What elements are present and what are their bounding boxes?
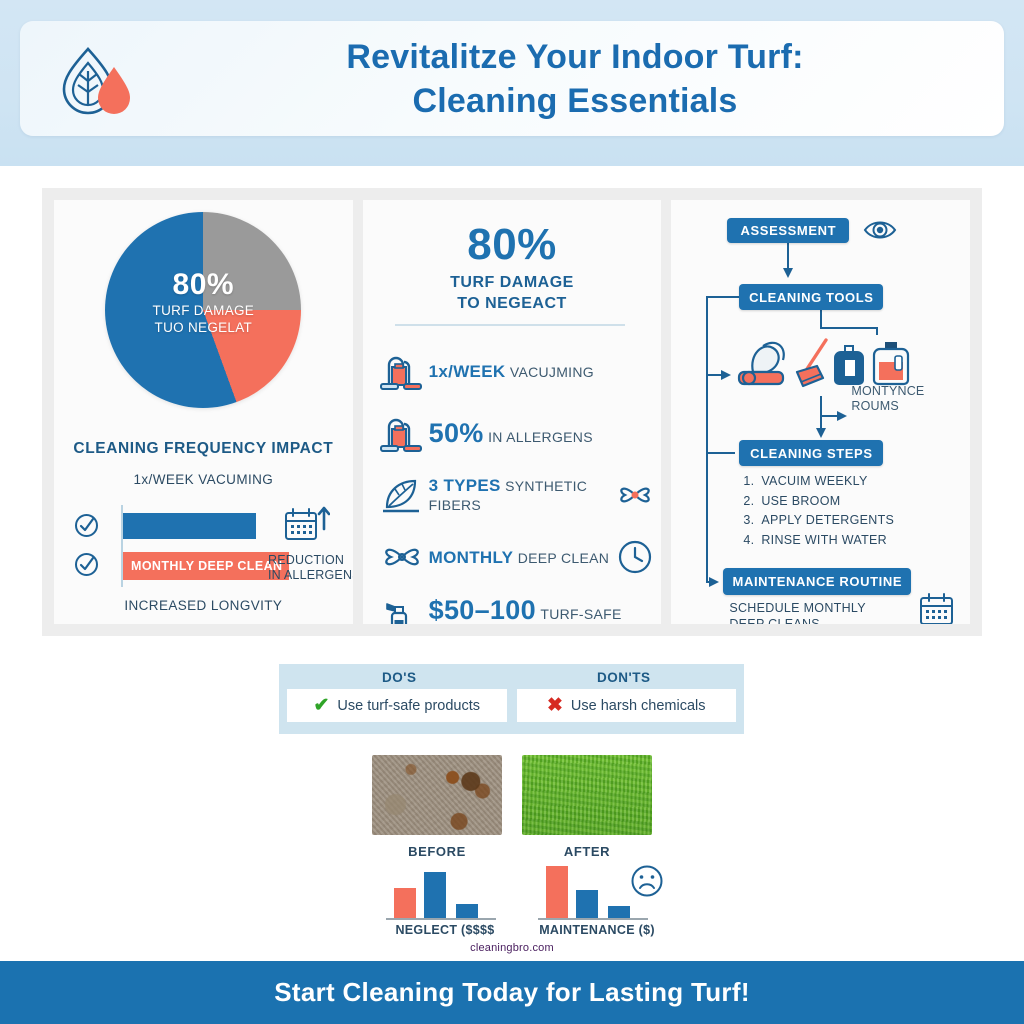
list-item: 3.APPLY DETERGENTS xyxy=(743,511,933,531)
panels-container: 80% TURF DAMAGE TUO NEGELAT CLEANING FRE… xyxy=(42,188,982,636)
leaf-icon xyxy=(375,471,429,519)
maintenance-caption: MAINTENANCE ($) xyxy=(538,923,656,937)
list-item: 1.VACUIM WEEKLY xyxy=(743,472,933,492)
bar-monthly-deep-clean: MONTHLY DEEP CLEAN xyxy=(123,552,289,580)
table-row: ✔ Use turf-safe products ✖ Use harsh che… xyxy=(287,689,736,722)
bar xyxy=(576,890,598,918)
check-circle-icon xyxy=(74,552,99,577)
cost-comparison-charts: NEGLECT ($$$$ xyxy=(386,868,656,940)
spray-bottle-icon xyxy=(375,595,429,624)
panel-key-stats: 80% TURF DAMAGE TO NEGEACT xyxy=(363,200,662,624)
step-number: 1. xyxy=(743,472,761,492)
dont-cell: ✖ Use harsh chemicals xyxy=(517,689,737,722)
list-item: 1x/WEEK VACUJMING xyxy=(375,340,655,402)
step-text: APPLY DETERGENTS xyxy=(761,513,894,527)
panel-process-flow: ASSESSMENT CLEANING TOOLS xyxy=(671,200,970,624)
cta-banner[interactable]: Start Cleaning Today for Lasting Turf! xyxy=(0,961,1024,1024)
maintenance-note-line1: SCHEDULE MONTHLY xyxy=(729,600,889,616)
stat-primary: $50–100 xyxy=(429,595,536,625)
page-title-line2: Cleaning Essentials xyxy=(170,79,980,123)
do-cell: ✔ Use turf-safe products xyxy=(287,689,507,722)
mont-note-line2: ROUMS xyxy=(851,399,941,414)
table-header-row: DO'S DON'TS xyxy=(287,670,736,685)
bar xyxy=(394,888,416,918)
bar xyxy=(456,904,478,918)
stat-primary: 1x/WEEK xyxy=(429,362,506,381)
page-title: Revitalitze Your Indoor Turf: Cleaning E… xyxy=(170,35,980,123)
flow-box-cleaning-tools[interactable]: CLEANING TOOLS xyxy=(739,284,883,310)
bar xyxy=(424,872,446,918)
fiber-swirl-icon xyxy=(615,475,655,515)
column-header-dos: DO'S xyxy=(287,670,512,685)
neglect-chart: NEGLECT ($$$$ xyxy=(386,868,504,937)
before-caption: BEFORE xyxy=(372,844,502,859)
reduction-note-line1: REDUCTION xyxy=(268,553,353,568)
step-text: RINSE WITH WATER xyxy=(761,533,887,547)
step-number: 3. xyxy=(743,511,761,531)
dos-donts-table: DO'S DON'TS ✔ Use turf-safe products ✖ U… xyxy=(279,664,744,734)
maintenance-rooms-note: MONTYNCE ROUMS xyxy=(851,384,941,414)
clock-icon xyxy=(615,537,655,577)
bar xyxy=(546,866,568,918)
calendar-up-arrow-icon xyxy=(284,505,330,549)
header-card: Revitalitze Your Indoor Turf: Cleaning E… xyxy=(20,21,1004,136)
maintenance-chart: MAINTENANCE ($) xyxy=(538,868,656,937)
after-image xyxy=(522,755,652,835)
flow-box-assessment[interactable]: ASSESSMENT xyxy=(727,218,849,243)
before-item: BEFORE xyxy=(372,755,502,859)
calendar-icon xyxy=(919,592,955,624)
step-text: VACUIM WEEKLY xyxy=(761,474,867,488)
panel-cleaning-frequency: 80% TURF DAMAGE TUO NEGELAT CLEANING FRE… xyxy=(54,200,353,624)
maintenance-note: SCHEDULE MONTHLY DEEP CLEANS xyxy=(729,600,889,624)
column-header-donts: DON'TS xyxy=(512,670,737,685)
stat-primary: 3 TYPES xyxy=(429,476,501,495)
stats-headline-sub-line2: TO NEGEACT xyxy=(457,295,567,312)
after-caption: AFTER xyxy=(522,844,652,859)
pie-chart-graphic xyxy=(105,212,301,408)
flow-box-maintenance-routine[interactable]: MAINTENANCE ROUTINE xyxy=(723,568,911,595)
stats-headline-value: 80% xyxy=(363,220,662,270)
stats-list: 1x/WEEK VACUJMING xyxy=(375,340,655,624)
vacuum-icon xyxy=(375,347,429,395)
broom-icon xyxy=(797,340,826,386)
bar-caption-top: 1x/WEEK VACUMING xyxy=(54,472,353,487)
list-item: $50–100 TURF-SAFE SOLUTIONS xyxy=(375,588,655,624)
neglect-caption: NEGLECT ($$$$ xyxy=(386,923,504,937)
watermark: cleaningbro.com xyxy=(0,942,1024,954)
stat-secondary: DEEP CLEAN xyxy=(518,550,609,566)
chart-baseline xyxy=(538,918,648,920)
water-drop-leaf-logo-icon xyxy=(54,43,140,117)
stats-headline-sub: TURF DAMAGE TO NEGEACT xyxy=(363,272,662,314)
after-item: AFTER xyxy=(522,755,652,859)
dont-text: Use harsh chemicals xyxy=(571,698,706,714)
eye-icon xyxy=(863,216,897,244)
check-icon: ✔ xyxy=(313,696,329,715)
stat-secondary: IN ALLERGENS xyxy=(488,429,593,445)
sad-face-icon xyxy=(630,864,664,898)
check-circle-icon xyxy=(74,513,99,538)
fiber-swirl-icon xyxy=(375,533,429,581)
stat-primary: MONTHLY xyxy=(429,548,514,567)
pie-chart-title: CLEANING FREQUENCY IMPACT xyxy=(54,440,353,458)
reduction-note: REDUCTION IN ALLERGENS xyxy=(268,553,353,583)
cleaner-bottle-icon xyxy=(874,342,908,384)
mont-note-line1: MONTYNCE xyxy=(851,384,941,399)
before-image xyxy=(372,755,502,835)
infographic-page: Revitalitze Your Indoor Turf: Cleaning E… xyxy=(0,0,1024,1024)
page-title-line1: Revitalitze Your Indoor Turf: xyxy=(346,38,803,76)
before-after-section: BEFORE AFTER xyxy=(372,755,652,859)
vacuum-cleaner-icon xyxy=(739,343,784,384)
stats-headline-sub-line1: TURF DAMAGE xyxy=(450,274,574,291)
maintenance-note-line2: DEEP CLEANS xyxy=(729,616,889,624)
cross-icon: ✖ xyxy=(547,696,563,715)
flow-box-cleaning-steps[interactable]: CLEANING STEPS xyxy=(739,440,883,466)
pie-chart: 80% TURF DAMAGE TUO NEGELAT xyxy=(105,212,301,408)
bar-caption-bottom: INCREASED LONGVITY xyxy=(54,598,353,613)
vacuum-icon xyxy=(375,409,429,457)
reduction-note-line2: IN ALLERGENS xyxy=(268,568,353,583)
list-item: 50% IN ALLERGENS xyxy=(375,402,655,464)
step-number: 4. xyxy=(743,531,761,551)
list-item: MONTHLY DEEP CLEAN xyxy=(375,526,655,588)
list-item: 4.RINSE WITH WATER xyxy=(743,531,933,551)
list-item: 2.USE BROOM xyxy=(743,492,933,512)
stat-primary: 50% xyxy=(429,418,484,448)
step-text: USE BROOM xyxy=(761,494,840,508)
bar-weekly-vacuuming xyxy=(123,513,256,539)
divider xyxy=(395,324,625,326)
step-number: 2. xyxy=(743,492,761,512)
stat-secondary: VACUJMING xyxy=(510,364,594,380)
bar xyxy=(608,906,630,918)
do-text: Use turf-safe products xyxy=(337,698,480,714)
frequency-bar-chart: MONTHLY DEEP CLEAN xyxy=(74,505,334,591)
cleaning-steps-list: 1.VACUIM WEEKLY 2.USE BROOM 3.APPLY DETE… xyxy=(743,472,933,550)
detergent-bottle-icon xyxy=(835,346,863,384)
chart-baseline xyxy=(386,918,496,920)
list-item: 3 TYPES SYNTHETIC FIBERS xyxy=(375,464,655,526)
flowchart: ASSESSMENT CLEANING TOOLS xyxy=(671,200,970,624)
